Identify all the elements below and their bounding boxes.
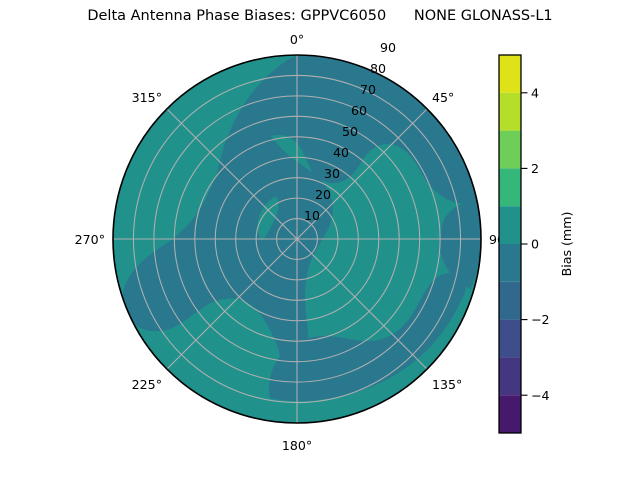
theta-label-225: 225°	[132, 377, 162, 392]
matplotlib-figure: Delta Antenna Phase Biases: GPPVC6050 NO…	[0, 0, 640, 480]
r-label-40: 40	[333, 145, 349, 160]
colorbar-band-2-3	[499, 131, 521, 169]
figure-canvas: 0° 45° 90° 135° 180° 225° 270° 315° 10 2…	[0, 0, 640, 480]
colorbar-axis-label: Bias (mm)	[559, 212, 574, 277]
colorbar-band-0-1	[499, 206, 521, 244]
colorbar-band-neg4-neg3	[499, 357, 521, 395]
polar-grid	[113, 55, 481, 423]
r-label-30: 30	[324, 166, 340, 181]
colorbar-tick-label-4: 4	[531, 85, 539, 100]
theta-label-135: 135°	[432, 377, 462, 392]
colorbar-band-neg2-neg1	[499, 282, 521, 320]
colorbar-band-neg5-neg4	[499, 395, 521, 433]
r-label-70: 70	[360, 82, 376, 97]
colorbar-tick-label-neg4: −4	[531, 388, 550, 403]
colorbar-band-4-5	[499, 55, 521, 93]
theta-label-0: 0°	[290, 32, 304, 47]
r-label-80: 80	[370, 61, 386, 76]
theta-label-45: 45°	[432, 90, 454, 105]
theta-label-270: 270°	[75, 232, 105, 247]
colorbar-band-neg3-neg2	[499, 320, 521, 358]
theta-label-315: 315°	[132, 90, 162, 105]
r-label-10: 10	[304, 208, 320, 223]
colorbar: 4 2 0 −2 −4 Bias (mm)	[499, 55, 574, 433]
figure-title: Delta Antenna Phase Biases: GPPVC6050 NO…	[0, 8, 640, 24]
r-label-20: 20	[315, 187, 331, 202]
colorbar-band-3-4	[499, 93, 521, 131]
colorbar-tick-label-2: 2	[531, 161, 539, 176]
colorbar-tick-label-neg2: −2	[531, 312, 550, 327]
colorbar-ticks	[521, 93, 528, 395]
r-label-60: 60	[351, 103, 367, 118]
colorbar-tick-labels: 4 2 0 −2 −4	[531, 85, 550, 402]
colorbar-band-1-2	[499, 168, 521, 206]
r-label-50: 50	[342, 124, 358, 139]
colorbar-tick-label-0: 0	[531, 237, 539, 252]
theta-label-180: 180°	[282, 438, 312, 453]
colorbar-band-neg1-0	[499, 244, 521, 282]
r-label-90: 90	[380, 40, 396, 55]
